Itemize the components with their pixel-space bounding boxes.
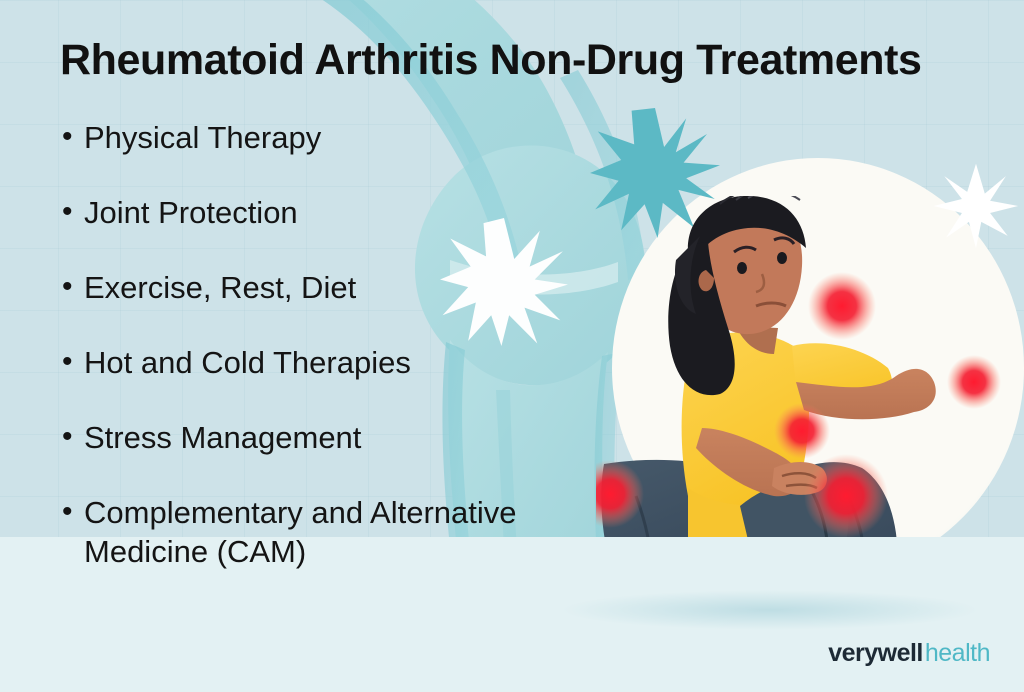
- list-item: • Physical Therapy: [62, 118, 582, 157]
- logo-secondary-text: health: [925, 639, 990, 667]
- bullet-marker-icon: •: [62, 493, 84, 531]
- bullet-marker-icon: •: [62, 418, 84, 456]
- list-item-label: Hot and Cold Therapies: [84, 343, 582, 382]
- list-item-label: Exercise, Rest, Diet: [84, 268, 582, 307]
- list-item: • Stress Management: [62, 418, 582, 457]
- teal-starburst-icon: [590, 108, 720, 238]
- bullet-marker-icon: •: [62, 193, 84, 231]
- list-item-label: Complementary and Alternative Medicine (…: [84, 493, 582, 571]
- treatment-list: • Physical Therapy • Joint Protection • …: [62, 118, 582, 607]
- list-item-label: Joint Protection: [84, 193, 582, 232]
- pain-spot-shoulder: [808, 272, 876, 340]
- pain-spot-left-knee: [596, 460, 644, 528]
- bullet-marker-icon: •: [62, 118, 84, 156]
- pain-spot-elbow: [947, 355, 1001, 409]
- list-item-label: Physical Therapy: [84, 118, 582, 157]
- page-title: Rheumatoid Arthritis Non-Drug Treatments: [60, 36, 980, 85]
- bullet-marker-icon: •: [62, 268, 84, 306]
- infographic-canvas: Rheumatoid Arthritis Non-Drug Treatments…: [0, 0, 1024, 692]
- list-item-label: Stress Management: [84, 418, 582, 457]
- logo-primary-text: verywell: [828, 639, 923, 667]
- floor-shadow: [560, 590, 980, 630]
- verywell-health-logo: verywellhealth: [828, 639, 990, 668]
- white-oval-backdrop: [612, 158, 1024, 578]
- list-item: • Exercise, Rest, Diet: [62, 268, 582, 307]
- pain-spot-wrist: [774, 403, 830, 459]
- pain-spot-knee: [804, 454, 888, 538]
- white-star-right-icon: [932, 162, 1020, 250]
- bullet-marker-icon: •: [62, 343, 84, 381]
- list-item: • Hot and Cold Therapies: [62, 343, 582, 382]
- list-item: • Joint Protection: [62, 193, 582, 232]
- pain-spot-ankle: [760, 544, 832, 616]
- list-item: • Complementary and Alternative Medicine…: [62, 493, 582, 571]
- seated-woman-illustration: [596, 196, 1024, 632]
